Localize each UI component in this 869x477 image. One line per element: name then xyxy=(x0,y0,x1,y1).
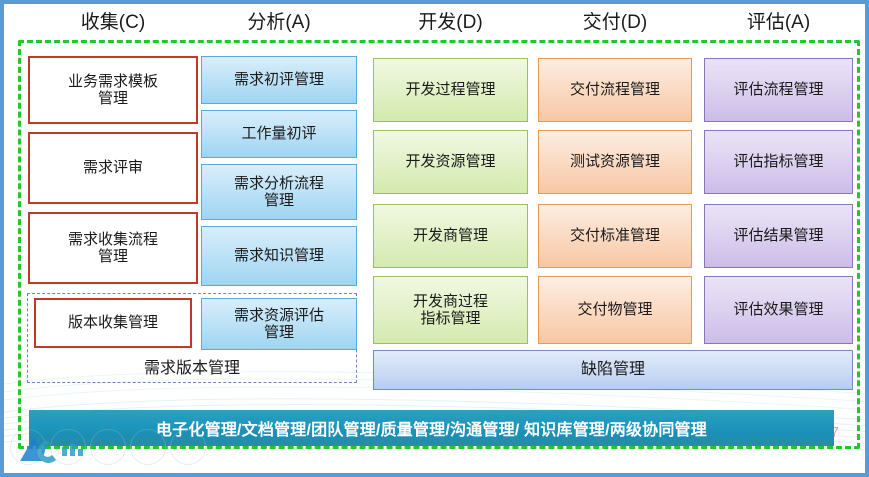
card-collect-1[interactable]: 业务需求模板 管理 xyxy=(28,56,198,124)
card-collect-4[interactable]: 版本收集管理 xyxy=(34,298,192,348)
page-number: 7 xyxy=(831,424,839,441)
slide-canvas: 收集(C) 分析(A) 开发(D) 交付(D) 评估(A) 需求版本管理 业务需… xyxy=(0,0,869,477)
card-development-3[interactable]: 开发商管理 xyxy=(373,204,528,268)
card-analysis-5[interactable]: 需求资源评估 管理 xyxy=(201,298,357,350)
column-headers: 收集(C) 分析(A) 开发(D) 交付(D) 评估(A) xyxy=(4,10,869,38)
card-collect-3[interactable]: 需求收集流程 管理 xyxy=(28,212,198,284)
card-development-4[interactable]: 开发商过程 指标管理 xyxy=(373,276,528,344)
card-evaluation-4[interactable]: 评估效果管理 xyxy=(704,276,853,344)
card-delivery-2[interactable]: 测试资源管理 xyxy=(538,130,692,194)
card-defect-management[interactable]: 缺陷管理 xyxy=(373,350,853,390)
card-collect-2[interactable]: 需求评审 xyxy=(28,132,198,204)
column-header-collect: 收集(C) xyxy=(28,10,198,36)
card-analysis-2[interactable]: 工作量初评 xyxy=(201,110,357,158)
card-delivery-3[interactable]: 交付标准管理 xyxy=(538,204,692,268)
column-header-development: 开发(D) xyxy=(373,10,528,36)
column-header-analysis: 分析(A) xyxy=(201,10,357,36)
card-analysis-4[interactable]: 需求知识管理 xyxy=(201,226,357,286)
card-evaluation-2[interactable]: 评估指标管理 xyxy=(704,130,853,194)
card-analysis-1[interactable]: 需求初评管理 xyxy=(201,56,357,104)
card-evaluation-3[interactable]: 评估结果管理 xyxy=(704,204,853,268)
card-delivery-4[interactable]: 交付物管理 xyxy=(538,276,692,344)
card-development-2[interactable]: 开发资源管理 xyxy=(373,130,528,194)
foundation-banner: 电子化管理/文档管理/团队管理/质量管理/沟通管理/ 知识库管理/两级协同管理 xyxy=(29,410,834,446)
requirement-version-group-caption: 需求版本管理 xyxy=(27,352,357,380)
card-delivery-1[interactable]: 交付流程管理 xyxy=(538,58,692,122)
card-analysis-3[interactable]: 需求分析流程 管理 xyxy=(201,164,357,220)
column-header-evaluation: 评估(A) xyxy=(704,10,853,36)
card-evaluation-1[interactable]: 评估流程管理 xyxy=(704,58,853,122)
card-development-1[interactable]: 开发过程管理 xyxy=(373,58,528,122)
column-header-delivery: 交付(D) xyxy=(538,10,692,36)
